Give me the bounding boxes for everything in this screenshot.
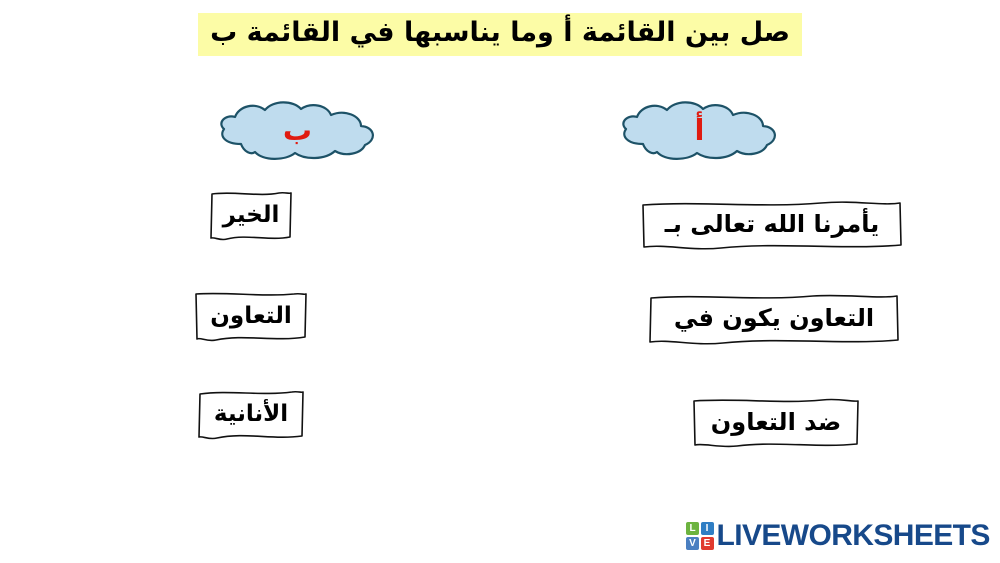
logo-tile-v: V <box>686 537 699 550</box>
prompt-box-a-2-text: التعاون يكون في <box>674 304 874 334</box>
cloud-label-a: أ <box>617 100 782 162</box>
liveworksheets-logo[interactable]: L I V E LIVEWORKSHEETS <box>686 519 990 553</box>
cloud-header-b: ب <box>215 100 380 162</box>
logo-tile-i: I <box>701 522 714 535</box>
answer-box-b-2-text: التعاون <box>210 303 291 331</box>
logo-tile-e: E <box>701 537 714 550</box>
cloud-label-b: ب <box>215 100 380 162</box>
prompt-box-a-1-text: يأمرنا الله تعالى بـ <box>665 210 880 240</box>
page-title: صل بين القائمة أ وما يناسبها في القائمة … <box>0 13 1000 56</box>
prompt-box-a-1[interactable]: يأمرنا الله تعالى بـ <box>641 200 903 250</box>
prompt-box-a-3[interactable]: ضد التعاون <box>692 398 860 448</box>
cloud-header-a: أ <box>617 100 782 162</box>
answer-box-b-1[interactable]: الخير <box>209 191 293 241</box>
answer-box-b-3-text: الأنانية <box>214 401 288 429</box>
page-title-text: صل بين القائمة أ وما يناسبها في القائمة … <box>198 13 802 56</box>
logo-wordmark: LIVEWORKSHEETS <box>717 521 990 551</box>
logo-tiles-icon: L I V E <box>686 522 714 550</box>
answer-box-b-3[interactable]: الأنانية <box>197 390 305 440</box>
prompt-box-a-3-text: ضد التعاون <box>711 408 841 438</box>
worksheet-canvas: صل بين القائمة أ وما يناسبها في القائمة … <box>0 0 1000 563</box>
answer-box-b-2[interactable]: التعاون <box>194 292 308 342</box>
logo-tile-l: L <box>686 522 699 535</box>
prompt-box-a-2[interactable]: التعاون يكون في <box>648 294 900 344</box>
answer-box-b-1-text: الخير <box>223 202 280 230</box>
